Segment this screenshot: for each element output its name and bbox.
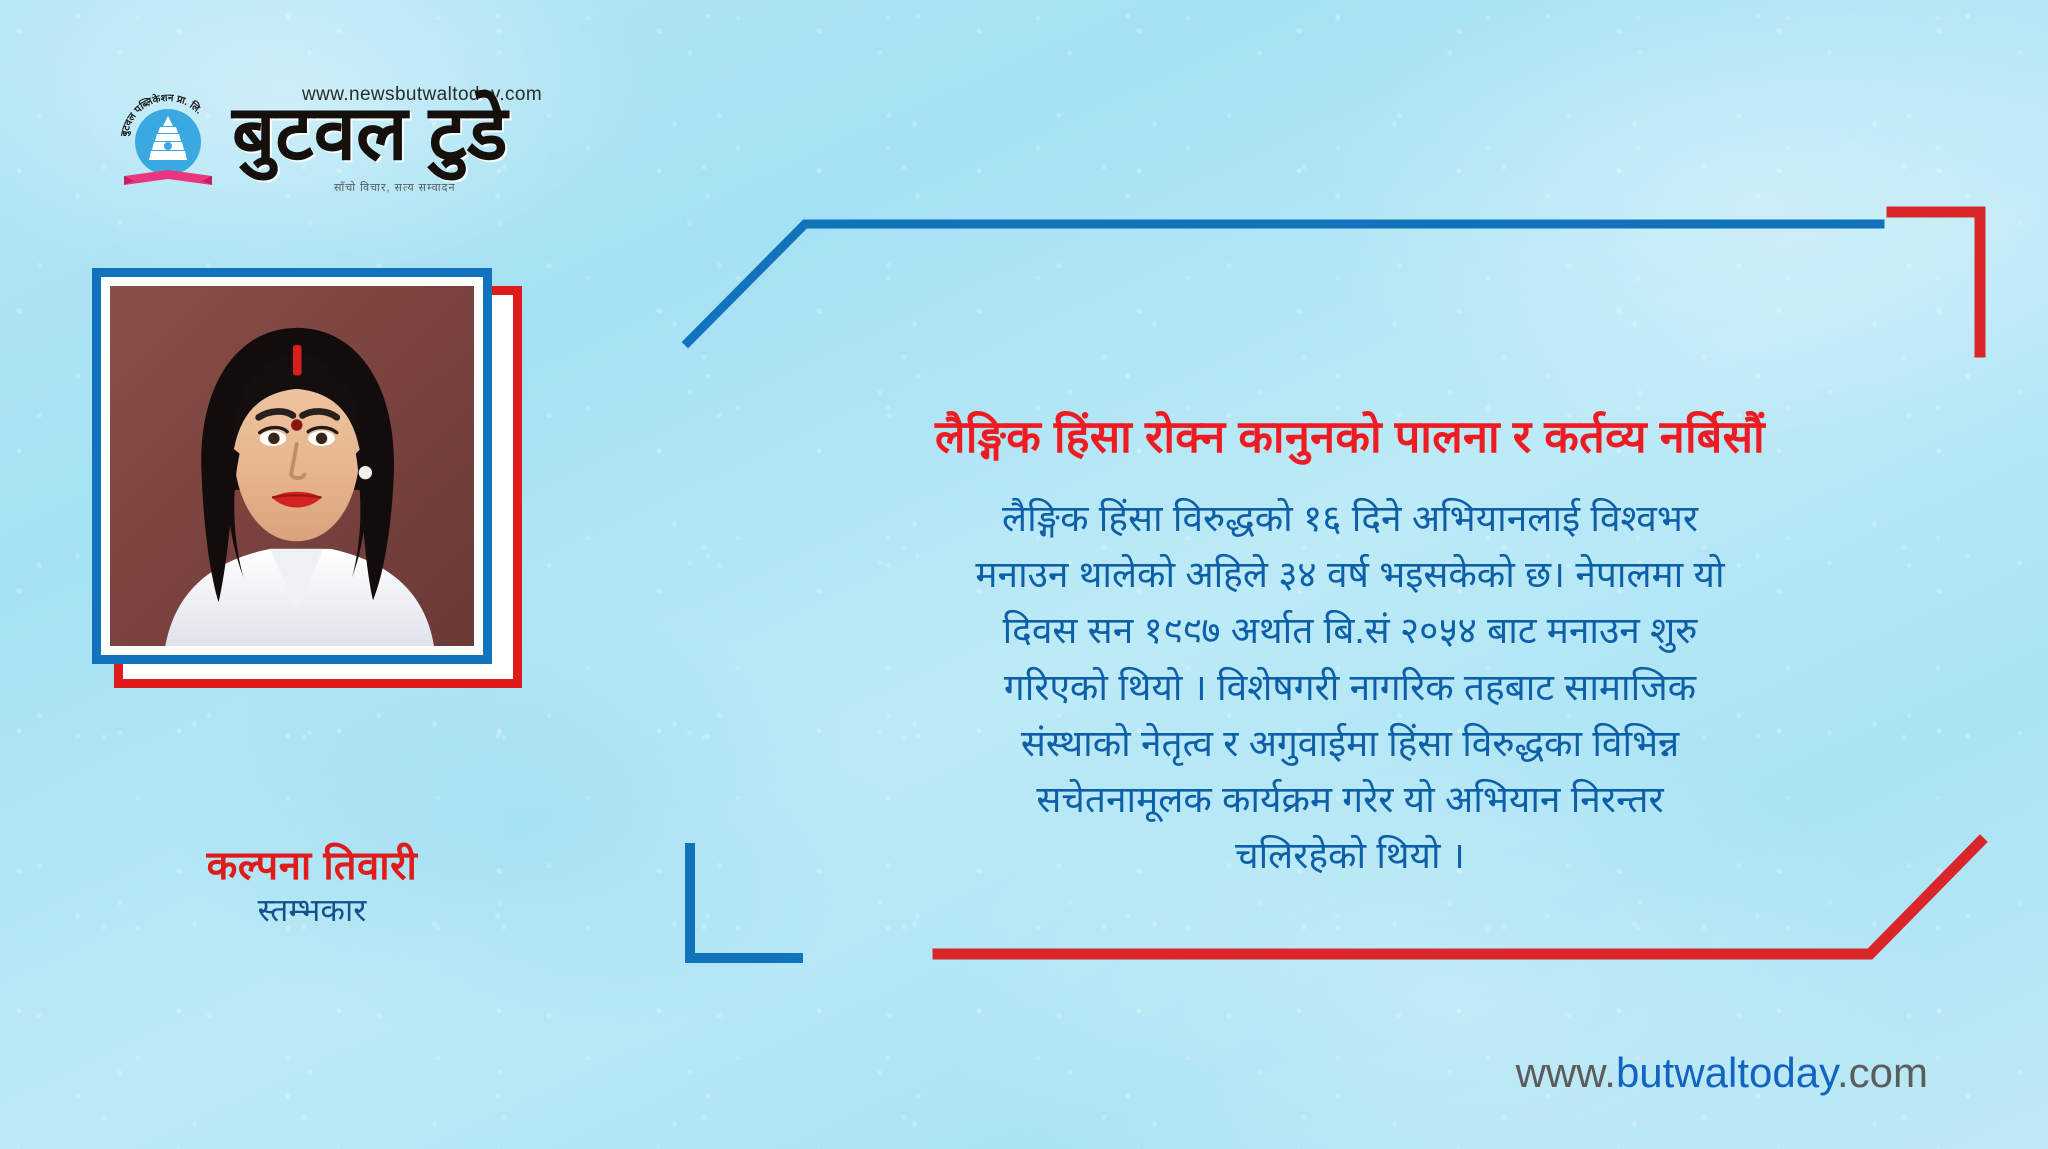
article-line: संस्थाको नेतृत्व र अगुवाईमा हिंसा विरुद्… bbox=[770, 716, 1930, 772]
site-url-prefix: www. bbox=[1516, 1049, 1616, 1096]
poster-canvas: बुटवल पब्लिकेशन प्रा. लि. www.newsbutwal… bbox=[0, 0, 2048, 1149]
site-url: www.butwaltoday.com bbox=[1516, 1049, 1928, 1097]
article-line: दिवस सन १९९७ अर्थात बि.सं २०५४ बाट मनाउन… bbox=[770, 603, 1930, 659]
portrait-frame-blue bbox=[92, 268, 492, 664]
article-block: लैङ्गिक हिंसा रोक्न कानुनको पालना र कर्त… bbox=[770, 410, 1930, 885]
temple-emblem-icon: बुटवल पब्लिकेशन प्रा. लि. bbox=[116, 90, 220, 194]
bracket-top-right bbox=[1892, 212, 1980, 352]
article-headline: लैङ्गिक हिंसा रोक्न कानुनको पालना र कर्त… bbox=[770, 410, 1930, 465]
article-line: मनाउन थालेको अहिले ३४ वर्ष भइसकेको छ। ने… bbox=[770, 547, 1930, 603]
article-line: सचेतनामूलक कार्यक्रम गरेर यो अभियान निरन… bbox=[770, 772, 1930, 828]
site-url-suffix: .com bbox=[1837, 1049, 1928, 1096]
masthead-title: बुटवल टुडे bbox=[232, 96, 508, 172]
portrait-photo bbox=[110, 286, 474, 646]
bracket-top-left bbox=[688, 224, 1880, 342]
site-url-brand: butwaltoday bbox=[1616, 1049, 1837, 1096]
article-line: लैङ्गिक हिंसा विरुद्धको १६ दिने अभियानला… bbox=[770, 491, 1930, 547]
article-body: लैङ्गिक हिंसा विरुद्धको १६ दिने अभियानला… bbox=[770, 491, 1930, 885]
byline-author-name: कल्पना तिवारी bbox=[92, 836, 532, 891]
byline-author-role: स्तम्भकार bbox=[92, 888, 532, 931]
author-portrait bbox=[92, 268, 522, 688]
article-line: गरिएको थियो । विशेषगरी नागरिक तहबाट सामा… bbox=[770, 660, 1930, 716]
masthead: बुटवल पब्लिकेशन प्रा. लि. www.newsbutwal… bbox=[116, 84, 576, 196]
article-line: चलिरहेको थियो । bbox=[770, 828, 1930, 884]
masthead-tagline: साँचो विचार, सत्य सम्वादन bbox=[334, 180, 456, 195]
